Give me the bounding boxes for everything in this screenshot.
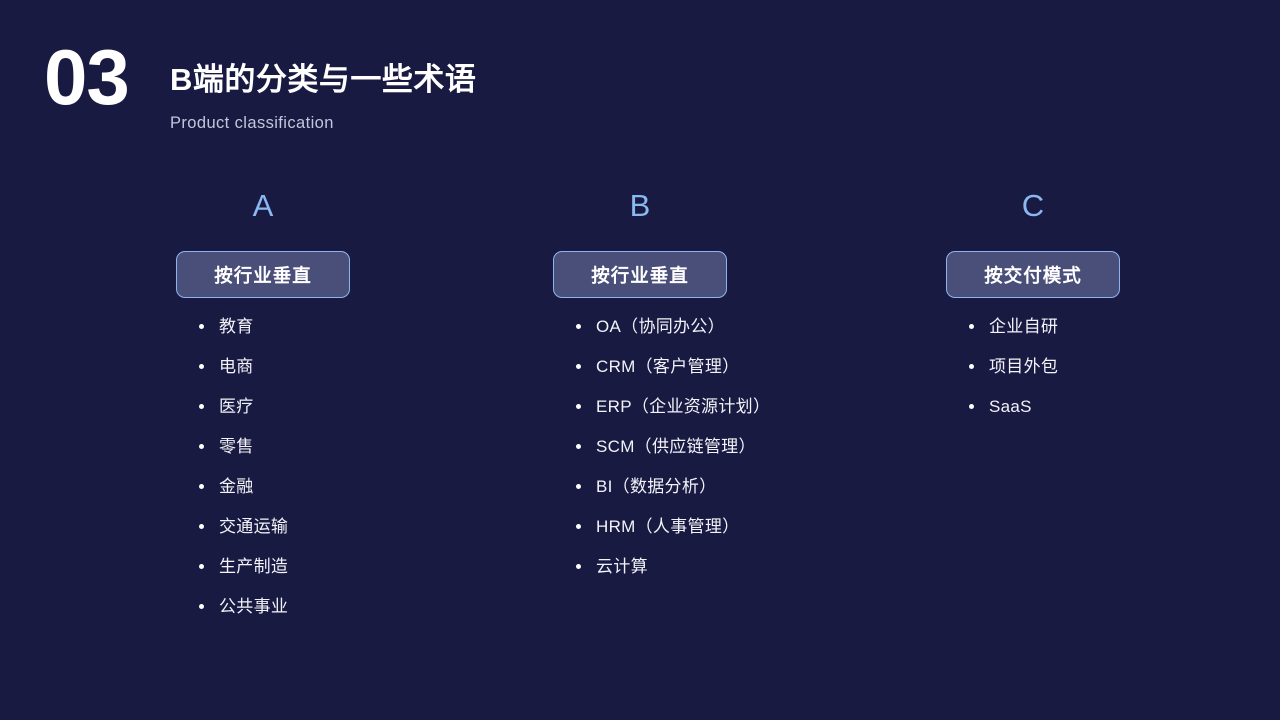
bullet-icon bbox=[199, 324, 204, 329]
column-b: B 按行业垂直 OA（协同办公） CRM（客户管理） ERP（企业资源计划） S bbox=[553, 186, 853, 595]
list-item: 项目外包 bbox=[966, 355, 1246, 395]
page-title: B端的分类与一些术语 bbox=[170, 60, 476, 100]
column-badge-c[interactable]: 按交付模式 bbox=[946, 251, 1120, 298]
list-item-label: 公共事业 bbox=[219, 595, 288, 619]
list-item: 公共事业 bbox=[196, 595, 476, 635]
column-letter-b: B bbox=[553, 186, 727, 232]
list-item: SCM（供应链管理） bbox=[573, 435, 853, 475]
list-item-label: 交通运输 bbox=[219, 515, 288, 539]
column-a: A 按行业垂直 教育 电商 医疗 零售 bbox=[176, 186, 476, 635]
bullet-icon bbox=[576, 404, 581, 409]
list-item: ERP（企业资源计划） bbox=[573, 395, 853, 435]
list-item-label: 金融 bbox=[219, 475, 254, 499]
list-item-label: 云计算 bbox=[596, 555, 648, 579]
list-item: 教育 bbox=[196, 315, 476, 355]
bullet-icon bbox=[576, 564, 581, 569]
column-badge-b[interactable]: 按行业垂直 bbox=[553, 251, 727, 298]
column-badge-a[interactable]: 按行业垂直 bbox=[176, 251, 350, 298]
list-item: 云计算 bbox=[573, 555, 853, 595]
section-number: 03 bbox=[44, 38, 129, 116]
list-item-label: 企业自研 bbox=[989, 315, 1058, 339]
bullet-icon bbox=[199, 524, 204, 529]
bullet-icon bbox=[969, 324, 974, 329]
list-item-label: OA（协同办公） bbox=[596, 315, 725, 339]
bullet-icon bbox=[199, 444, 204, 449]
list-item-label: SaaS bbox=[989, 395, 1032, 419]
list-item: HRM（人事管理） bbox=[573, 515, 853, 555]
bullet-icon bbox=[576, 524, 581, 529]
bullet-icon bbox=[199, 364, 204, 369]
list-item-label: 教育 bbox=[219, 315, 254, 339]
column-c: C 按交付模式 企业自研 项目外包 SaaS bbox=[946, 186, 1246, 435]
list-item: 交通运输 bbox=[196, 515, 476, 555]
slide-root: 03 B端的分类与一些术语 Product classification A 按… bbox=[0, 0, 1280, 720]
list-item: 医疗 bbox=[196, 395, 476, 435]
list-item: OA（协同办公） bbox=[573, 315, 853, 355]
bullet-icon bbox=[199, 404, 204, 409]
list-item: 金融 bbox=[196, 475, 476, 515]
list-item: 零售 bbox=[196, 435, 476, 475]
list-item: CRM（客户管理） bbox=[573, 355, 853, 395]
bullet-icon bbox=[576, 324, 581, 329]
list-item-label: SCM（供应链管理） bbox=[596, 435, 756, 459]
bullet-icon bbox=[576, 484, 581, 489]
column-list-a: 教育 电商 医疗 零售 金融 bbox=[176, 315, 476, 635]
bullet-icon bbox=[199, 564, 204, 569]
header-text-group: B端的分类与一些术语 Product classification bbox=[170, 60, 476, 134]
column-letter-a: A bbox=[176, 186, 350, 232]
list-item: 电商 bbox=[196, 355, 476, 395]
bullet-icon bbox=[969, 364, 974, 369]
list-item-label: 零售 bbox=[219, 435, 254, 459]
page-subtitle: Product classification bbox=[170, 112, 476, 134]
list-item-label: 项目外包 bbox=[989, 355, 1058, 379]
bullet-icon bbox=[969, 404, 974, 409]
column-letter-c: C bbox=[946, 186, 1120, 232]
list-item-label: HRM（人事管理） bbox=[596, 515, 739, 539]
list-item-label: BI（数据分析） bbox=[596, 475, 716, 499]
list-item: 企业自研 bbox=[966, 315, 1246, 355]
bullet-icon bbox=[199, 484, 204, 489]
list-item: SaaS bbox=[966, 395, 1246, 435]
list-item-label: 医疗 bbox=[219, 395, 254, 419]
bullet-icon bbox=[576, 364, 581, 369]
slide-header: 03 B端的分类与一些术语 Product classification bbox=[0, 0, 1280, 170]
list-item-label: ERP（企业资源计划） bbox=[596, 395, 770, 419]
list-item-label: 电商 bbox=[219, 355, 254, 379]
bullet-icon bbox=[199, 604, 204, 609]
column-list-b: OA（协同办公） CRM（客户管理） ERP（企业资源计划） SCM（供应链管理… bbox=[553, 315, 853, 595]
list-item: 生产制造 bbox=[196, 555, 476, 595]
list-item-label: 生产制造 bbox=[219, 555, 288, 579]
list-item: BI（数据分析） bbox=[573, 475, 853, 515]
column-list-c: 企业自研 项目外包 SaaS bbox=[946, 315, 1246, 435]
list-item-label: CRM（客户管理） bbox=[596, 355, 739, 379]
bullet-icon bbox=[576, 444, 581, 449]
